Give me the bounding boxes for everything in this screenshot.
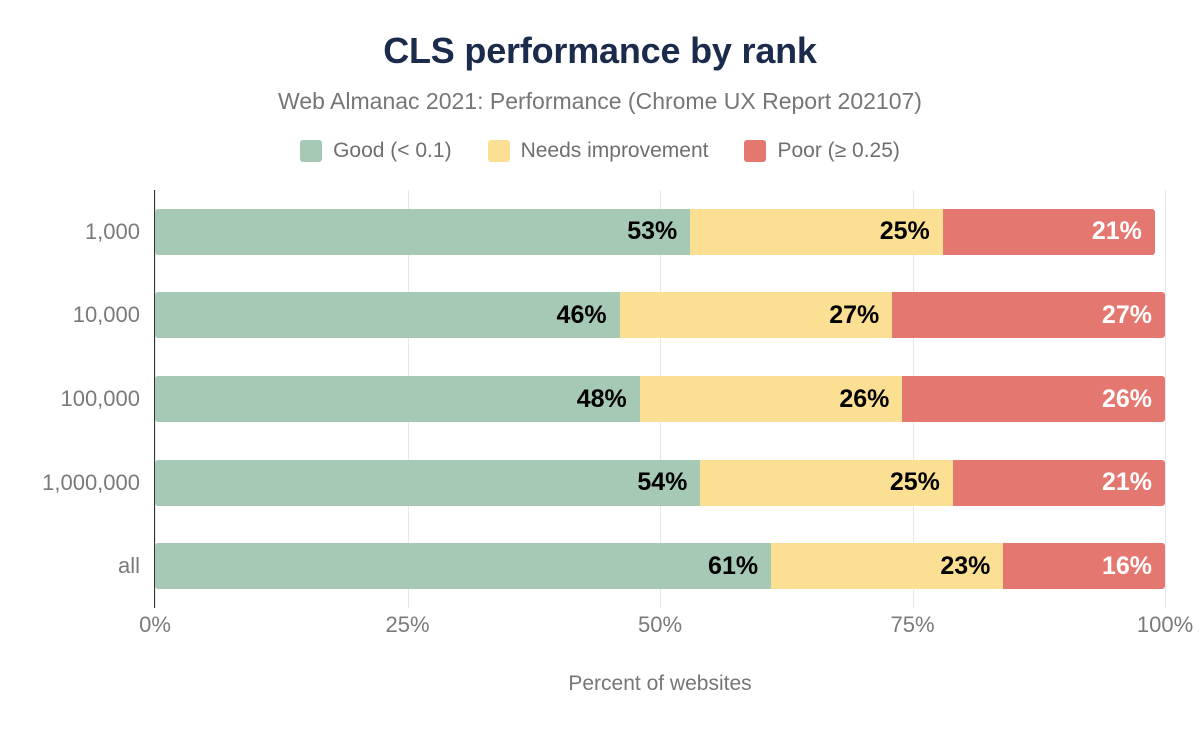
- chart-subtitle: Web Almanac 2021: Performance (Chrome UX…: [0, 88, 1200, 115]
- x-axis-tick-labels: 0%25%50%75%100%: [155, 612, 1165, 644]
- bar-segment-label: 26%: [839, 385, 889, 414]
- bar-segment[interactable]: 48%: [155, 376, 640, 422]
- bar-segment-label: 21%: [1102, 468, 1152, 497]
- bar-segment-label: 54%: [637, 468, 687, 497]
- y-axis-tick-label: all: [0, 543, 140, 589]
- bar-segment-label: 25%: [880, 217, 930, 246]
- legend-swatch-icon: [300, 140, 322, 162]
- x-axis-tick-label: 50%: [638, 612, 682, 638]
- legend-item-label: Needs improvement: [521, 139, 709, 163]
- y-axis-tick-labels: 1,00010,000100,0001,000,000all: [0, 190, 140, 608]
- cls-performance-chart: CLS performance by rank Web Almanac 2021…: [0, 0, 1200, 742]
- bar-segment[interactable]: 27%: [620, 292, 893, 338]
- bar-segment[interactable]: 21%: [943, 209, 1155, 255]
- gridline: [1165, 190, 1166, 608]
- x-axis-tick-label: 75%: [890, 612, 934, 638]
- bar-rows: 53%25%21%46%27%27%48%26%26%54%25%21%61%2…: [155, 190, 1165, 608]
- y-axis-tick-label: 100,000: [0, 376, 140, 422]
- bar-row: 53%25%21%: [155, 209, 1165, 255]
- legend-item[interactable]: Poor (≥ 0.25): [744, 139, 899, 163]
- bar-row: 61%23%16%: [155, 543, 1165, 589]
- x-axis-tick-label: 25%: [385, 612, 429, 638]
- bar-segment-label: 26%: [1102, 385, 1152, 414]
- bar-segment[interactable]: 27%: [892, 292, 1165, 338]
- plot-area: 53%25%21%46%27%27%48%26%26%54%25%21%61%2…: [155, 190, 1165, 608]
- bar-segment[interactable]: 25%: [690, 209, 943, 255]
- chart-title: CLS performance by rank: [0, 30, 1200, 72]
- x-axis-tick-label: 0%: [139, 612, 171, 638]
- bar-segment[interactable]: 53%: [155, 209, 690, 255]
- legend-item[interactable]: Good (< 0.1): [300, 139, 451, 163]
- x-axis-tick-label: 100%: [1137, 612, 1193, 638]
- bar-row: 46%27%27%: [155, 292, 1165, 338]
- bar-segment[interactable]: 54%: [155, 460, 700, 506]
- bar-segment[interactable]: 61%: [155, 543, 771, 589]
- bar-segment[interactable]: 21%: [953, 460, 1165, 506]
- bar-segment-label: 16%: [1102, 552, 1152, 581]
- x-axis-title: Percent of websites: [155, 672, 1165, 696]
- bar-segment-label: 46%: [557, 301, 607, 330]
- bar-segment-label: 48%: [577, 385, 627, 414]
- bar-segment[interactable]: 25%: [700, 460, 953, 506]
- bar-segment-label: 27%: [829, 301, 879, 330]
- legend-item-label: Poor (≥ 0.25): [777, 139, 899, 163]
- y-axis-tick-label: 1,000: [0, 209, 140, 255]
- legend-swatch-icon: [744, 140, 766, 162]
- bar-segment-label: 21%: [1092, 217, 1142, 246]
- bar-segment-label: 23%: [940, 552, 990, 581]
- bar-row: 54%25%21%: [155, 460, 1165, 506]
- bar-segment[interactable]: 26%: [902, 376, 1165, 422]
- bar-segment-label: 61%: [708, 552, 758, 581]
- chart-legend: Good (< 0.1)Needs improvementPoor (≥ 0.2…: [0, 139, 1200, 163]
- legend-item[interactable]: Needs improvement: [488, 139, 709, 163]
- bar-segment[interactable]: 46%: [155, 292, 620, 338]
- legend-item-label: Good (< 0.1): [333, 139, 451, 163]
- bar-row: 48%26%26%: [155, 376, 1165, 422]
- bar-segment[interactable]: 26%: [640, 376, 903, 422]
- legend-swatch-icon: [488, 140, 510, 162]
- y-axis-tick-label: 10,000: [0, 292, 140, 338]
- bar-segment-label: 25%: [890, 468, 940, 497]
- bar-segment[interactable]: 23%: [771, 543, 1003, 589]
- bar-segment[interactable]: 16%: [1003, 543, 1165, 589]
- bar-segment-label: 53%: [627, 217, 677, 246]
- bar-segment-label: 27%: [1102, 301, 1152, 330]
- y-axis-tick-label: 1,000,000: [0, 460, 140, 506]
